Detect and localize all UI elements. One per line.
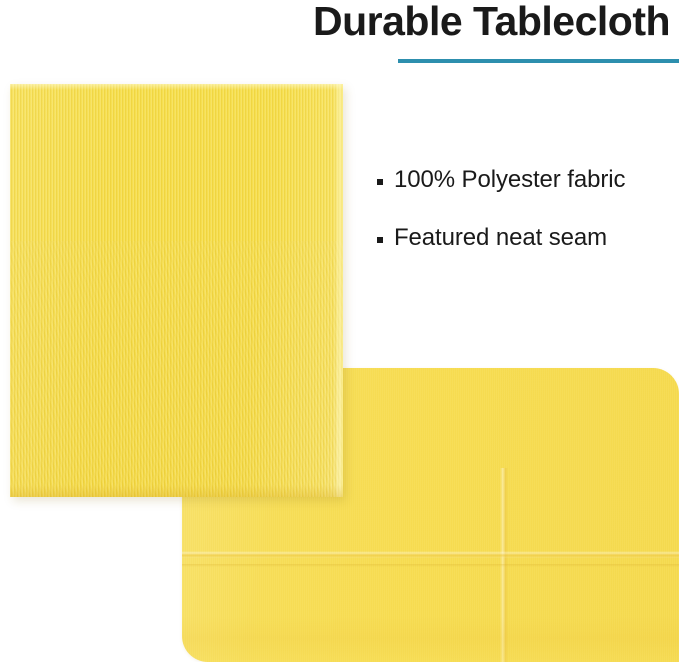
bottom-fold-shadow [10, 485, 343, 497]
list-item: Featured neat seam [374, 221, 674, 279]
horizontal-hem-seam [182, 551, 679, 558]
folded-tablecloth-swatch: Folded yellow polyester tablecloth showi… [10, 84, 343, 497]
square-bullet-icon [377, 179, 383, 185]
fabric-twill-texture [10, 241, 343, 497]
list-item: 100% Polyester fabric [374, 163, 674, 221]
bottom-fold-shading [182, 616, 679, 662]
feature-list: 100% Polyester fabric Featured neat seam [374, 163, 674, 279]
square-bullet-icon [377, 237, 383, 243]
top-hem-highlight [10, 84, 343, 90]
product-feature-image: Corner of yellow tablecloth laid flat sh… [0, 0, 679, 662]
page-title: Durable Tablecloth [313, 0, 679, 45]
right-hem-strip [334, 84, 343, 497]
teal-divider-rule [398, 59, 679, 63]
horizontal-hem-seam-shadow [182, 564, 679, 567]
feature-label-polyester: 100% Polyester fabric [394, 163, 625, 197]
feature-label-seam: Featured neat seam [394, 221, 607, 255]
